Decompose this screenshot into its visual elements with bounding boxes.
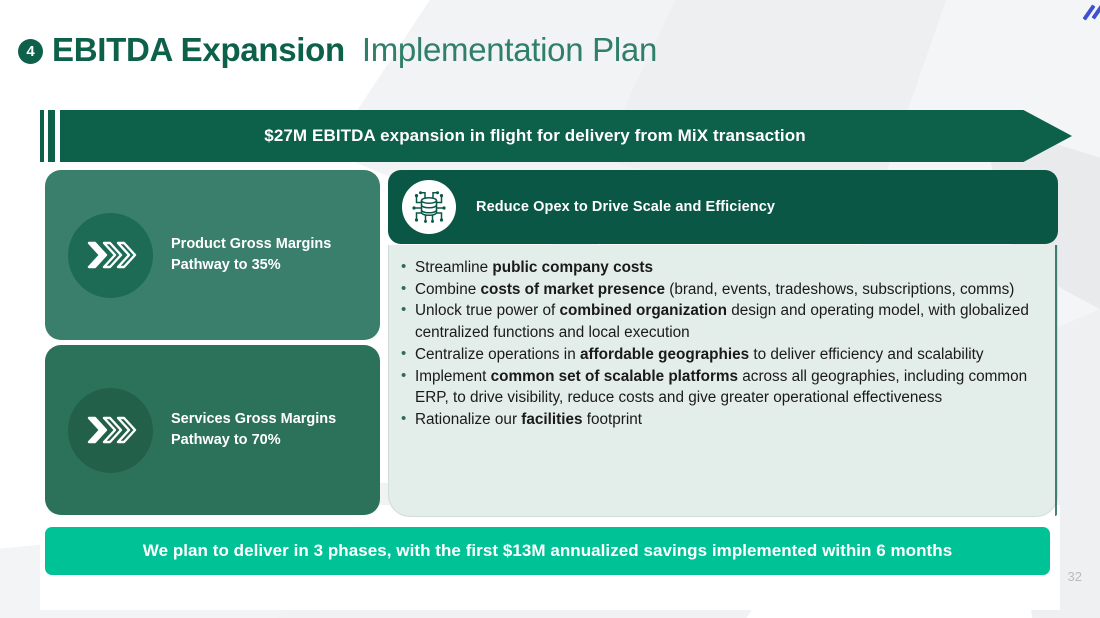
side-card-product-margins[interactable]: Product Gross Margins Pathway to 35% (45, 170, 380, 340)
bullet-emphasis: common set of scalable platforms (491, 368, 738, 385)
bullet-text: Implement (415, 368, 491, 385)
page-number: 32 (1068, 569, 1082, 584)
database-circuit-icon (402, 180, 456, 234)
bullet-item: Centralize operations in affordable geog… (397, 344, 1041, 366)
blue-dash-arc-decoration (960, 0, 1100, 115)
bullet-emphasis: public company costs (492, 259, 653, 276)
side-card-line2: Pathway to 35% (171, 255, 331, 276)
arrow-tick-2 (48, 110, 55, 162)
triple-chevron-icon (68, 388, 153, 473)
opex-panel-body: Streamline public company costsCombine c… (388, 245, 1058, 517)
triple-chevron-icon (68, 213, 153, 298)
arrow-tick-1 (40, 110, 44, 162)
bullet-text: Rationalize our (415, 411, 521, 428)
bullet-item: Combine costs of market presence (brand,… (397, 279, 1041, 301)
side-card-line1: Product Gross Margins (171, 234, 331, 255)
bullet-text: Combine (415, 281, 480, 298)
bullet-item: Streamline public company costs (397, 257, 1041, 279)
arrow-banner-text: $27M EBITDA expansion in flight for deli… (60, 110, 1010, 162)
opex-panel-header: Reduce Opex to Drive Scale and Efficienc… (388, 170, 1058, 244)
side-card-label: Services Gross Margins Pathway to 70% (171, 409, 336, 451)
bullet-item: Implement common set of scalable platfor… (397, 366, 1041, 409)
title-light-part: Implementation Plan (362, 31, 657, 69)
title-bold-part: EBITDA Expansion (52, 31, 345, 69)
arrow-banner: $27M EBITDA expansion in flight for deli… (40, 110, 1072, 162)
bullet-text: Centralize operations in (415, 346, 580, 363)
summary-banner-text: We plan to deliver in 3 phases, with the… (143, 541, 952, 561)
bullet-emphasis: combined organization (560, 302, 727, 319)
bullet-text: Unlock true power of (415, 302, 560, 319)
panel-right-edge (1055, 245, 1057, 516)
bullet-text: (brand, events, tradeshows, subscription… (665, 281, 1014, 298)
opex-bullet-list: Streamline public company costsCombine c… (397, 257, 1041, 431)
side-card-label: Product Gross Margins Pathway to 35% (171, 234, 331, 276)
summary-banner: We plan to deliver in 3 phases, with the… (45, 527, 1050, 575)
side-card-line1: Services Gross Margins (171, 409, 336, 430)
bullet-emphasis: facilities (521, 411, 582, 428)
bullet-emphasis: costs of market presence (480, 281, 665, 298)
decorative-dash (1092, 3, 1100, 19)
slide-root: 4 EBITDA Expansion Implementation Plan $… (0, 0, 1100, 618)
side-card-line2: Pathway to 70% (171, 430, 336, 451)
arrow-body-shape: $27M EBITDA expansion in flight for deli… (60, 110, 1072, 162)
decorative-dash (1083, 5, 1096, 21)
side-card-services-margins[interactable]: Services Gross Margins Pathway to 70% (45, 345, 380, 515)
bullet-text: to deliver efficiency and scalability (749, 346, 983, 363)
bullet-text: Streamline (415, 259, 492, 276)
opex-panel-title: Reduce Opex to Drive Scale and Efficienc… (476, 199, 775, 215)
page-title: 4 EBITDA Expansion Implementation Plan (18, 31, 657, 69)
bullet-text: footprint (583, 411, 643, 428)
bullet-item: Unlock true power of combined organizati… (397, 300, 1041, 343)
bullet-emphasis: affordable geographies (580, 346, 749, 363)
bullet-item: Rationalize our facilities footprint (397, 409, 1041, 431)
section-number-badge: 4 (18, 39, 43, 64)
